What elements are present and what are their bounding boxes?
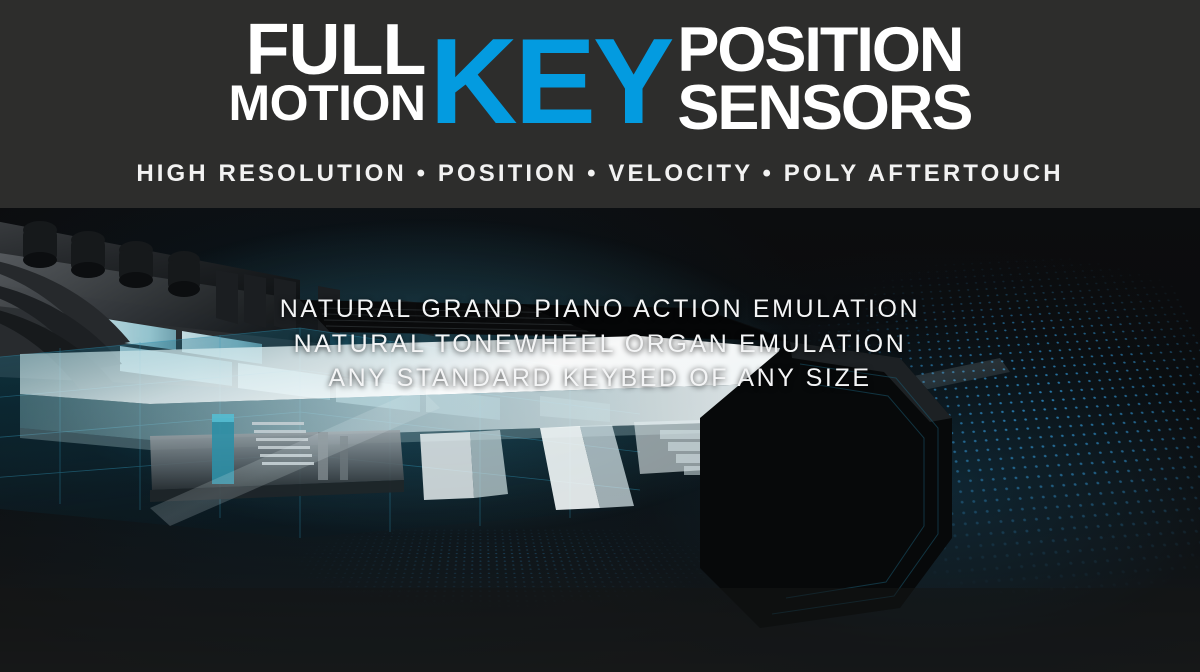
headline-left-column: FULL MOTION (229, 22, 430, 126)
product-render-stage (0, 208, 1200, 672)
feature-line-2: NATURAL TONEWHEEL ORGAN EMULATION (0, 327, 1200, 362)
headline-word-motion: MOTION (229, 80, 426, 126)
feature-list: NATURAL GRAND PIANO ACTION EMULATION NAT… (0, 292, 1200, 396)
headline-word-position: POSITION (677, 22, 962, 80)
feature-line-1: NATURAL GRAND PIANO ACTION EMULATION (0, 292, 1200, 327)
feature-line-3: ANY STANDARD KEYBED OF ANY SIZE (0, 361, 1200, 396)
feature-subtitle: HIGH RESOLUTION • POSITION • VELOCITY • … (0, 160, 1200, 188)
keyboard-3d-illustration (0, 208, 1200, 672)
promo-banner: FULL MOTION KEY POSITION SENSORS HIGH RE… (0, 0, 1200, 672)
headline-right-column: POSITION SENSORS (671, 22, 971, 138)
headline-word-full: FULL (246, 22, 426, 80)
headline-word-sensors: SENSORS (677, 80, 971, 138)
headline-block: FULL MOTION KEY POSITION SENSORS (0, 22, 1200, 138)
header-bar: FULL MOTION KEY POSITION SENSORS HIGH RE… (0, 0, 1200, 208)
headline-word-key: KEY (430, 22, 672, 140)
